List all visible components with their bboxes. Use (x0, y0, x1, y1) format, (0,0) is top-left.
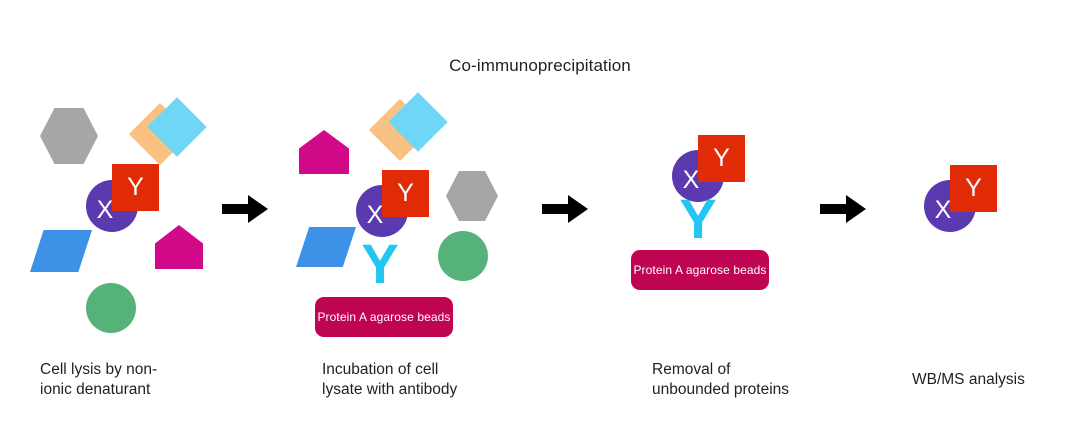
panel-2-caption-line1: Incubation of cell (322, 360, 532, 380)
coip-diagram: Co-immunoprecipitation X Y (0, 0, 1080, 431)
panel-4-caption: WB/MS analysis (912, 370, 1072, 390)
arrow-1 (222, 194, 268, 224)
panel-1-caption-line2: ionic denaturant (40, 380, 230, 400)
panel-1-caption-line1: Cell lysis by non- (40, 360, 230, 380)
panel-3-caption: Removal of unbounded proteins (652, 360, 842, 400)
panel-4-caption-line1: WB/MS analysis (912, 370, 1072, 390)
figure-title: Co-immunoprecipitation (0, 56, 1080, 76)
panel-3-caption-line2: unbounded proteins (652, 380, 842, 400)
diamond-cyan (156, 106, 198, 148)
protein-y: Y (112, 164, 159, 211)
panel-2-caption: Incubation of cell lysate with antibody (322, 360, 532, 400)
panel-analysis: X Y WB/MS analysis (900, 90, 1060, 350)
beads-label: Protein A agarose beads (633, 263, 766, 277)
panel-2-caption-line2: lysate with antibody (322, 380, 532, 400)
antibody-label: Y (361, 240, 398, 288)
diamond-cyan (397, 101, 439, 143)
parallelogram-blue (30, 230, 92, 272)
hexagon-gray (446, 171, 498, 221)
panel-cell-lysis: X Y Cell lysis by non- ionic denaturant (20, 90, 220, 350)
antibody-label: Y (679, 195, 716, 243)
protein-y: Y (698, 135, 745, 182)
protein-y: Y (950, 165, 997, 212)
arrow-3 (820, 194, 866, 224)
circle-green (438, 231, 488, 281)
protein-y-label: Y (112, 164, 159, 211)
protein-y-label: Y (382, 170, 429, 217)
panel-incubation: X Y Y Protein A agarose beads Incubation… (290, 90, 510, 350)
protein-y: Y (382, 170, 429, 217)
antibody: Y (668, 195, 728, 257)
panel-removal: X Y Y Protein A agarose beads Removal of… (630, 90, 820, 350)
panel-3-caption-line1: Removal of (652, 360, 842, 380)
circle-green (86, 283, 136, 333)
pentagon-magenta (155, 225, 203, 269)
parallelogram-blue (296, 227, 356, 267)
beads-label: Protein A agarose beads (317, 310, 450, 324)
hexagon-gray (40, 108, 98, 164)
beads-box: Protein A agarose beads (631, 250, 769, 290)
antibody: Y (350, 240, 410, 302)
arrow-2 (542, 194, 588, 224)
pentagon-magenta (299, 130, 349, 174)
panel-1-caption: Cell lysis by non- ionic denaturant (40, 360, 230, 400)
beads-box: Protein A agarose beads (315, 297, 453, 337)
protein-y-label: Y (950, 165, 997, 212)
protein-y-label: Y (698, 135, 745, 182)
